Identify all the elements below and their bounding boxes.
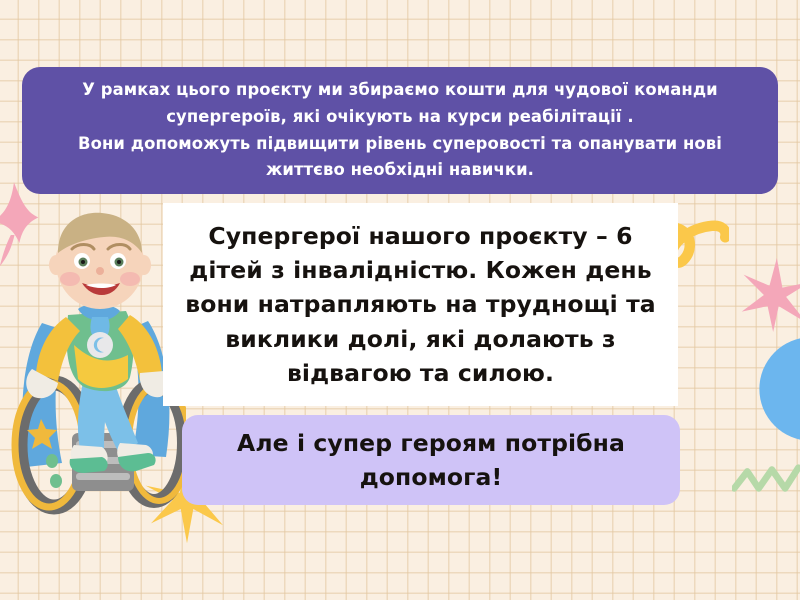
intro-purple-panel: У рамках цього проєкту ми збираємо кошти… xyxy=(22,67,778,194)
description-line-1: Супергерої нашого проєкту – 6 xyxy=(185,219,656,253)
callout-panel-text: Але і супер героям потрібна допомога! xyxy=(237,426,625,495)
blue-ring-icon xyxy=(744,333,800,445)
description-line-4: виклики долі, які долають з xyxy=(185,322,656,356)
callout-lilac-panel: Але і супер героям потрібна допомога! xyxy=(182,415,680,505)
intro-line-2: супергероїв, які очікують на курси реабі… xyxy=(78,104,722,131)
intro-line-3: Вони допоможуть підвищити рівень суперов… xyxy=(78,131,722,158)
pink-sparkle-icon xyxy=(738,256,800,334)
intro-panel-text: У рамках цього проєкту ми збираємо кошти… xyxy=(78,77,722,183)
callout-line-2: допомога! xyxy=(237,460,625,494)
callout-line-1: Але і супер героям потрібна xyxy=(237,426,625,460)
intro-line-1: У рамках цього проєкту ми збираємо кошти… xyxy=(78,77,722,104)
description-line-3: вони натрапляють на труднощі та xyxy=(185,287,656,321)
intro-line-4: життєво необхідні навички. xyxy=(78,157,722,184)
superhero-boy-wheelchair-illustration xyxy=(8,205,186,515)
description-panel-text: Супергерої нашого проєкту – 6 дітей з ін… xyxy=(185,219,656,389)
description-line-5: відвагою та силою. xyxy=(185,356,656,390)
green-zigzag-icon xyxy=(732,462,800,496)
description-line-2: дітей з інвалідністю. Кожен день xyxy=(185,253,656,287)
poster-canvas: У рамках цього проєкту ми збираємо кошти… xyxy=(0,0,800,600)
description-white-panel: Супергерої нашого проєкту – 6 дітей з ін… xyxy=(163,203,678,406)
